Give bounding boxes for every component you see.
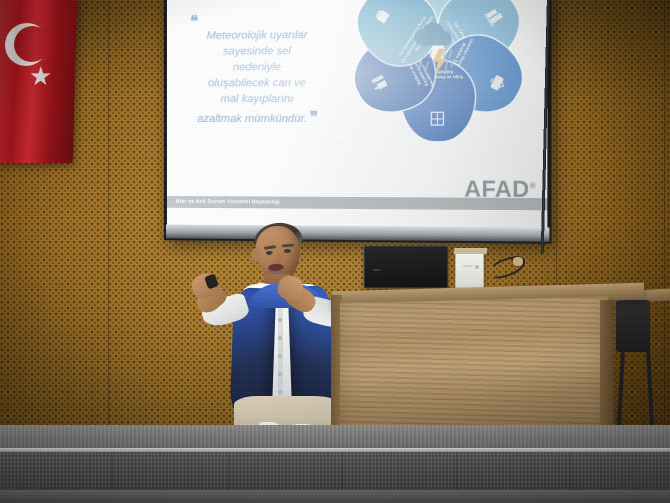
shirt-button [278,372,282,376]
presenter-shirt-placket [278,292,283,404]
quote-line: nedeniyle [233,61,281,73]
afad-logo-text: AFAD [464,175,529,202]
quote-line: mal kayıplarını [221,93,294,105]
slide-footer-text: Afet ve Acil Durum Yönetimi Başkanlığı [176,198,280,205]
flag-fold-shading [0,0,77,163]
flood-preparedness-wheel: Hava Durumunu Öğrenin Sel Yataklarına Ye… [342,0,534,148]
building-flood-icon [481,3,506,28]
quote-line: oluşabilecek can ve [208,77,306,89]
chair-backrest [616,300,650,352]
door-window-icon [428,110,446,128]
ups-power-unit [455,252,484,289]
balcony-chimney-icon [366,71,390,95]
lectern-front-panel [340,297,608,438]
afad-logo: AFAD® [464,175,536,203]
photograph-scene: ❝ Meteorolojik uyarılar sayesinde sel ne… [0,0,670,503]
lower-floor [0,490,670,503]
ups-paper-sheet [454,248,488,254]
sandbag-icon [369,4,394,29]
afad-registered-mark: ® [530,181,536,190]
presentation-slide: ❝ Meteorolojik uyarılar sayesinde sel ne… [167,0,547,228]
cable-connector [513,257,523,266]
storm-cloud-rain-lightning-icon [404,19,471,86]
shirt-button [278,318,282,322]
presenter-ear [251,248,260,261]
lectern-right-edge [600,300,614,436]
quote-line: azaltmak mümkündür. [197,113,307,125]
shirt-button [278,390,282,394]
shirt-button [278,336,282,340]
quote-open-mark: ❝ [190,16,326,27]
quote-line: sayesinde sel [223,45,291,57]
turkish-flag [0,0,77,163]
slide-quote: ❝ Meteorolojik uyarılar sayesinde sel ne… [188,16,326,128]
presenter-eye [284,249,291,253]
ups-label-strip [463,265,473,267]
projection-screen-surface: ❝ Meteorolojik uyarılar sayesinde sel ne… [167,0,547,228]
ups-indicator-light [475,265,479,269]
television-radio-icon [485,70,510,94]
quote-close-mark: ❞ [310,109,317,126]
shirt-button [278,354,282,358]
quote-line: Meteorolojik uyarılar [207,29,308,42]
projection-screen: ❝ Meteorolojik uyarılar sayesinde sel ne… [164,0,551,244]
